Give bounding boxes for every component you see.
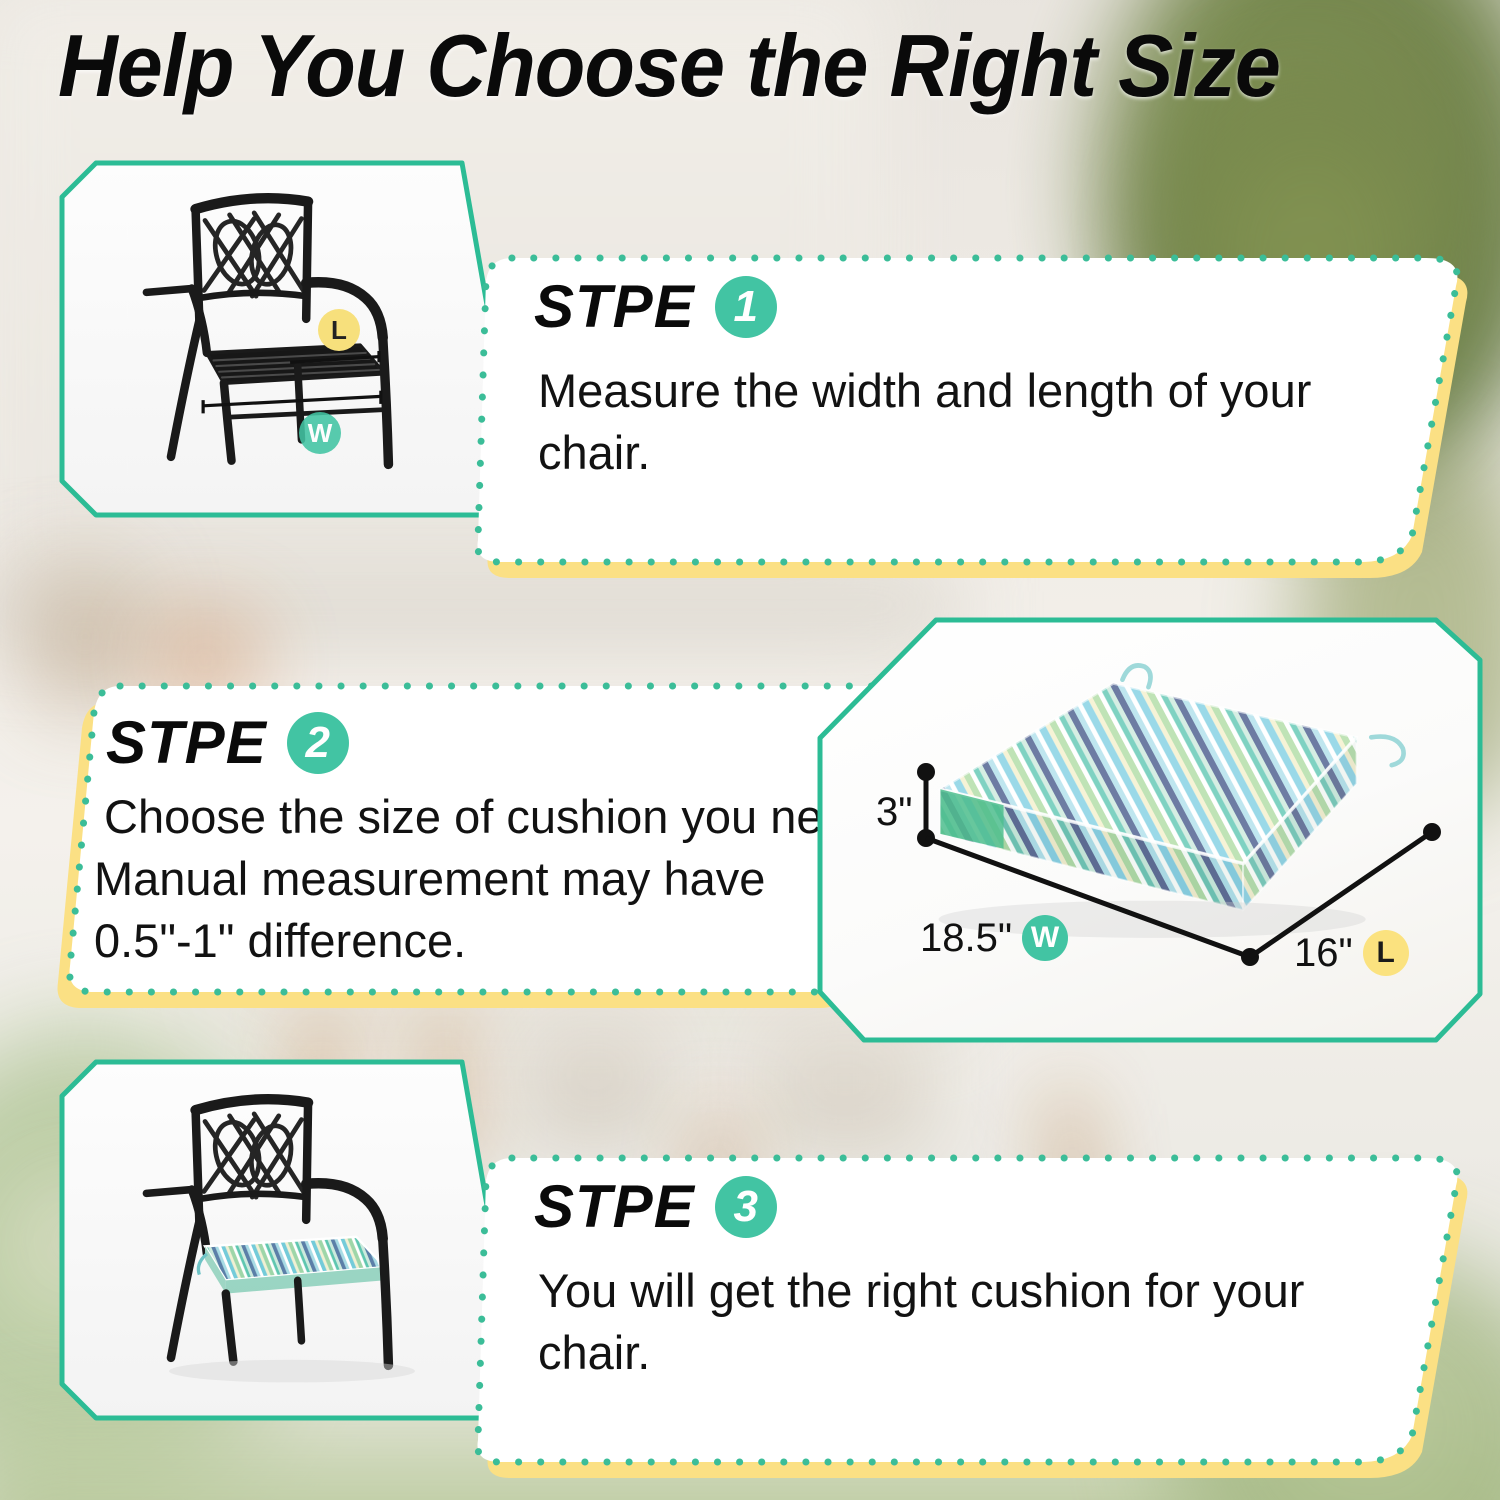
step1-text-card: STPE 1 Measure the width and length of y… — [470, 250, 1450, 550]
step2-body-line3: 0.5"-1" difference. — [94, 910, 466, 972]
step3-text-card: STPE 3 You will get the right cushion fo… — [470, 1150, 1450, 1450]
step3-label: STPE — [534, 1172, 695, 1241]
step2-label: STPE — [106, 708, 267, 777]
infographic-root: Help You Choose the Right Size — [0, 0, 1500, 1500]
step1-number-badge: 1 — [715, 276, 777, 338]
step2-body-line2: Manual measurement may have — [94, 848, 765, 910]
stool-left — [520, 1010, 670, 1140]
step2-heading: STPE 2 — [106, 708, 349, 777]
page-title: Help You Choose the Right Size — [58, 22, 1374, 110]
step2-body-line1: Choose the size of cushion you need. — [104, 786, 888, 848]
step1-heading: STPE 1 — [534, 272, 777, 341]
cushion-height-label: 3" — [876, 790, 912, 835]
cushion-width-label: 18.5" W — [920, 915, 1068, 961]
step3-heading: STPE 3 — [534, 1172, 777, 1241]
step2-text-card: STPE 2 Choose the size of cushion you ne… — [60, 680, 920, 1000]
step3-body: You will get the right cushion for your … — [538, 1260, 1338, 1384]
step1-label: STPE — [534, 272, 695, 341]
cushion-length-label: 16" L — [1294, 930, 1409, 976]
step2-number-badge: 2 — [287, 712, 349, 774]
step2-image-card-outline — [814, 614, 1488, 1048]
cushion-length-badge: L — [1363, 930, 1409, 976]
cushion-width-badge: W — [1022, 915, 1068, 961]
step1-body: Measure the width and length of your cha… — [538, 360, 1328, 484]
step3-number-badge: 3 — [715, 1176, 777, 1238]
cushion-length-value: 16" — [1294, 931, 1353, 976]
cushion-width-value: 18.5" — [920, 916, 1012, 961]
